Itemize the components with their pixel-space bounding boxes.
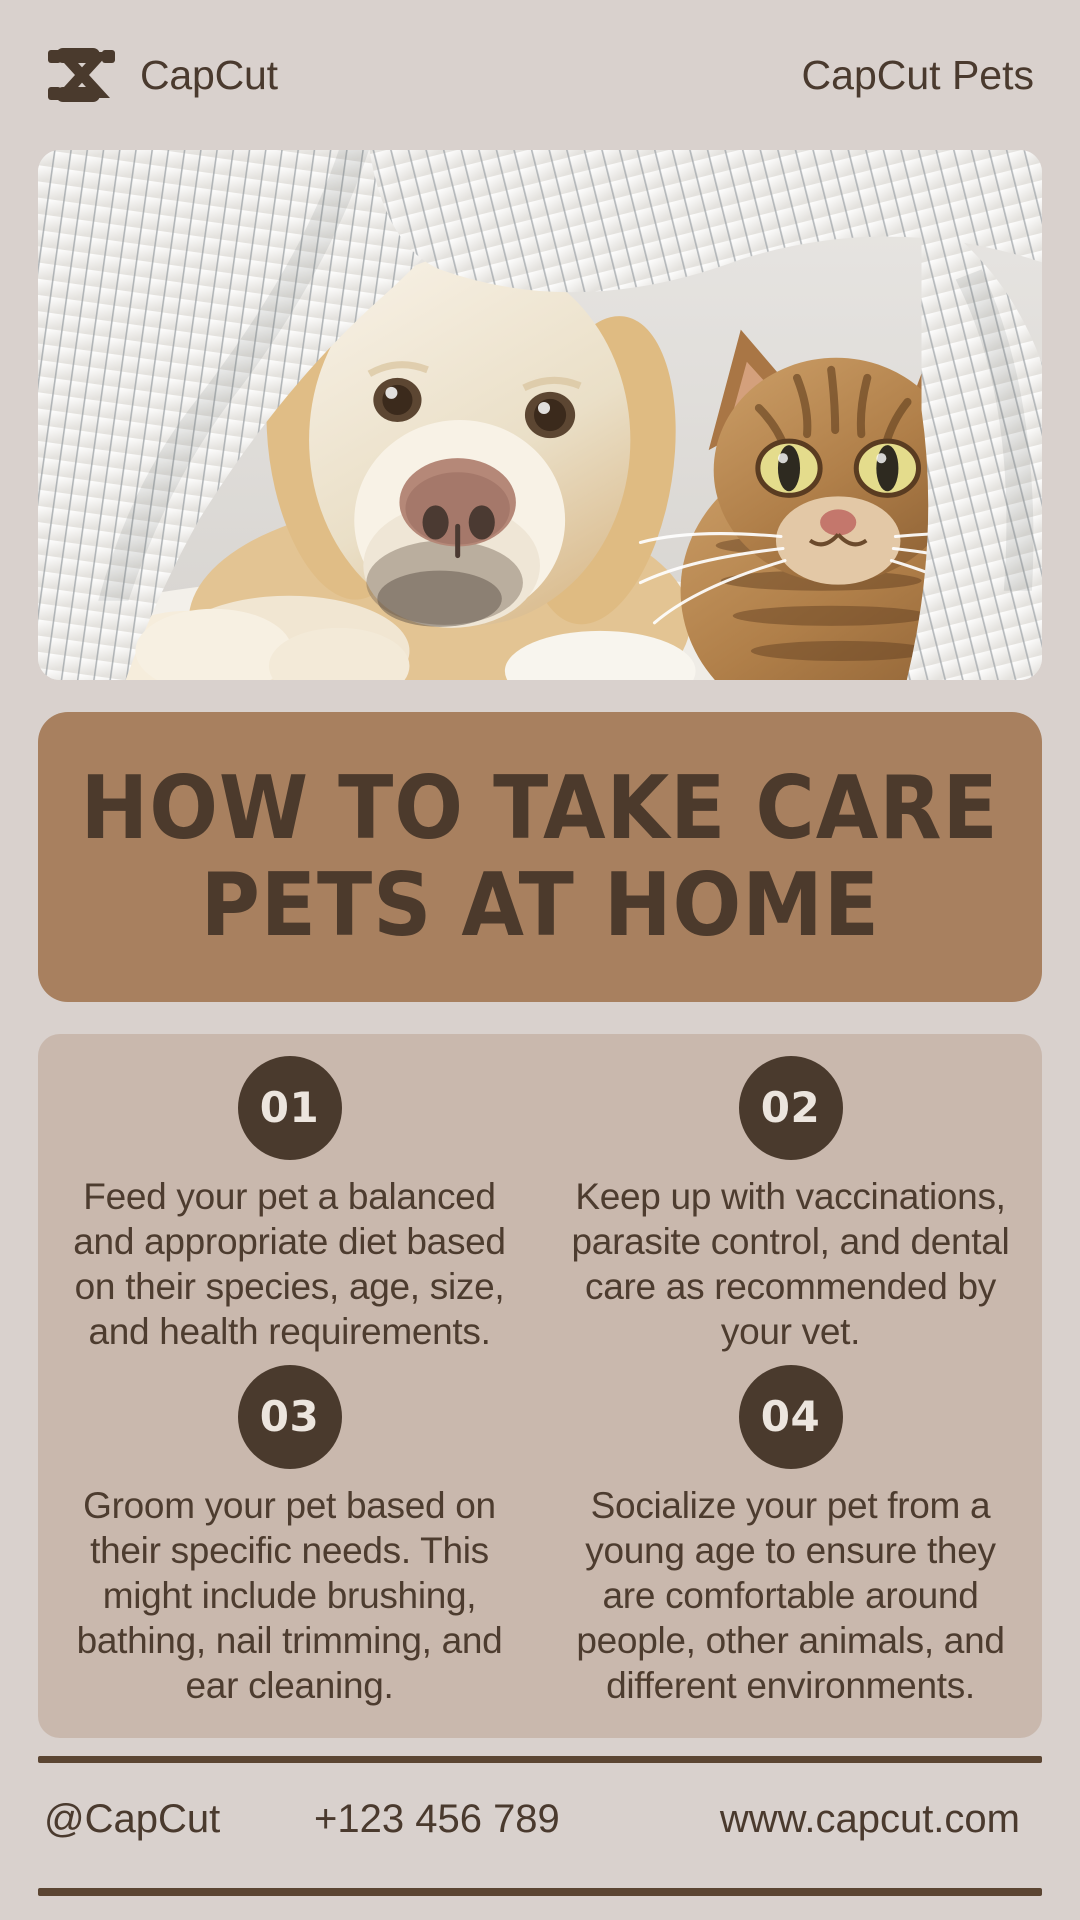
footer-phone-number[interactable]: +123 456 789	[314, 1797, 634, 1842]
tip-number-badge-02: 02	[739, 1056, 843, 1160]
tip-card-03: 03 Groom your pet based on their specifi…	[56, 1365, 523, 1709]
footer-contact-row: @CapCut +123 456 789 www.capcut.com	[38, 1763, 1042, 1842]
tip-number-badge-04: 04	[739, 1365, 843, 1469]
tip-number-03: 03	[260, 1396, 319, 1438]
footer-divider-top	[38, 1756, 1042, 1763]
hero-photo	[38, 150, 1042, 680]
tip-number-02: 02	[761, 1087, 820, 1129]
tip-text-02: Keep up with vaccinations, parasite cont…	[557, 1174, 1024, 1355]
footer-social-handle[interactable]: @CapCut	[44, 1797, 314, 1842]
tip-card-04: 04 Socialize your pet from a young age t…	[557, 1365, 1024, 1709]
tip-number-badge-03: 03	[238, 1365, 342, 1469]
brand-lockup: CapCut	[46, 46, 278, 104]
infographic-poster: CapCut CapCut Pets	[0, 0, 1080, 1920]
title-line-1: HOW TO TAKE CARE	[81, 760, 999, 857]
header-right-label: CapCut Pets	[802, 52, 1034, 99]
tip-text-03: Groom your pet based on their specific n…	[56, 1483, 523, 1709]
tip-number-01: 01	[260, 1087, 319, 1129]
poster-header: CapCut CapCut Pets	[38, 0, 1042, 150]
footer-website-url[interactable]: www.capcut.com	[634, 1797, 1036, 1842]
footer-section: @CapCut +123 456 789 www.capcut.com	[38, 1738, 1042, 1920]
brand-name: CapCut	[140, 52, 278, 99]
tip-number-badge-01: 01	[238, 1056, 342, 1160]
title-banner: HOW TO TAKE CARE PETS AT HOME	[38, 712, 1042, 1002]
tip-text-01: Feed your pet a balanced and appropriate…	[56, 1174, 523, 1355]
footer-divider-bottom	[38, 1888, 1042, 1896]
tip-card-02: 02 Keep up with vaccinations, parasite c…	[557, 1056, 1024, 1355]
tip-card-01: 01 Feed your pet a balanced and appropri…	[56, 1056, 523, 1355]
title-line-2: PETS AT HOME	[200, 857, 879, 954]
hero-illustration	[38, 150, 1042, 680]
tip-text-04: Socialize your pet from a young age to e…	[557, 1483, 1024, 1709]
tip-number-04: 04	[761, 1396, 820, 1438]
capcut-logo-icon	[46, 46, 118, 104]
tips-panel: 01 Feed your pet a balanced and appropri…	[38, 1034, 1042, 1738]
